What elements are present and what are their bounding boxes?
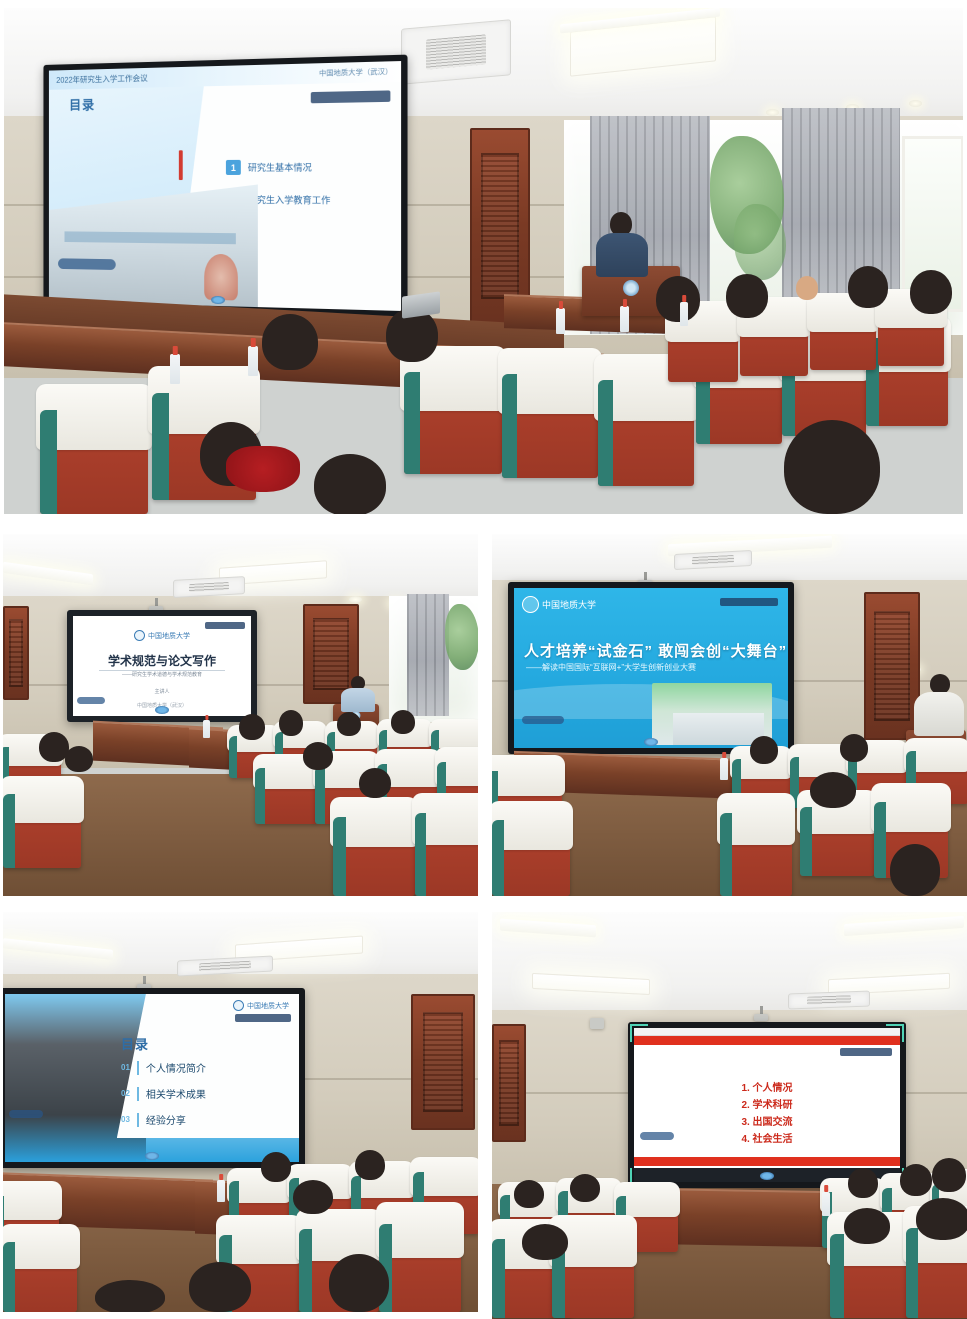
screen-brand-dot <box>760 1172 774 1180</box>
podium-emblem-icon <box>623 280 639 296</box>
seat <box>333 806 415 896</box>
ac-vent-icon <box>173 576 245 598</box>
slide-subtitle: ——研究生学术道德与学术规范教育 <box>73 671 251 678</box>
screen-content: 2022年研究生入学工作会议 中国地质大学（武汉） 目录 1 研究生基本情况 2 <box>49 61 401 311</box>
scene-room: 中国地质大学 人才培养“试金石” 敢闯会创“大舞台” ——解读中国国际“互联网+… <box>492 534 967 896</box>
audience-head <box>810 772 856 808</box>
seat-trim <box>229 736 237 778</box>
audience-head <box>844 1208 890 1244</box>
downlight <box>349 596 362 603</box>
seat <box>404 358 502 474</box>
seat <box>3 1232 77 1312</box>
audience-head <box>337 712 361 736</box>
slide-title-academic: 中国地质大学 学术规范与论文写作 ——研究生学术道德与学术规范教育 主讲人 中国… <box>73 616 251 716</box>
audience-head <box>95 1280 165 1312</box>
slide-toc-item: 02 相关学术成果 <box>121 1086 206 1101</box>
audience-head <box>329 1254 389 1312</box>
audience-head <box>355 1150 385 1180</box>
screen-brand-dot <box>145 1152 159 1160</box>
seat-trim <box>598 380 613 486</box>
slide-list-item: 1. 个人情况 <box>741 1080 792 1097</box>
audience-head <box>848 1168 878 1198</box>
audience-head <box>303 742 333 770</box>
seat-trim <box>492 1239 505 1318</box>
seat-trim <box>255 768 265 824</box>
screen-brand-dot <box>155 706 169 714</box>
slide-numbered-list: 1. 个人情况 2. 学术科研 3. 出国交流 4. 社会生活 <box>634 1028 900 1182</box>
university-emblem-icon <box>233 1000 244 1011</box>
seat-cover <box>3 776 84 823</box>
seat-trim <box>299 1229 312 1312</box>
seat-trim <box>830 1234 844 1318</box>
slide-toc-item: 03 经验分享 <box>121 1112 186 1127</box>
slide-header-right: 中国地质大学（武汉） <box>319 66 393 78</box>
slide-toc-label: 个人情况简介 <box>146 1060 206 1075</box>
screen-content: 中国地质大学 学术规范与论文写作 ——研究生学术道德与学术规范教育 主讲人 中国… <box>73 616 251 716</box>
water-bottle <box>822 1192 830 1216</box>
water-bottle <box>720 758 728 780</box>
hair-bow <box>226 446 300 492</box>
seat-trim <box>800 807 812 876</box>
screen-content: 中国地质大学 人才培养“试金石” 敢闯会创“大舞台” ——解读中国国际“互联网+… <box>514 588 788 748</box>
slide-toc-item: 1 研究生基本情况 <box>226 159 312 175</box>
speaker-head <box>930 674 950 694</box>
focus-corner-tr <box>886 1024 904 1042</box>
seat <box>598 366 694 486</box>
seat <box>3 784 81 868</box>
scene-room: 中国地质大学 目录 01 个人情况简介 02 相关学术成果 <box>3 912 478 1312</box>
water-bottle <box>620 306 629 332</box>
audience-head <box>391 710 415 734</box>
slide-red-header-bar <box>634 1036 900 1045</box>
wooden-door <box>492 1024 526 1142</box>
slide-university-logo: 中国地质大学 <box>233 1000 289 1011</box>
seat <box>415 802 478 896</box>
slide-list-item: 4. 社会生活 <box>741 1131 792 1148</box>
slide-university-name: 中国地质大学 <box>148 631 190 641</box>
slide-list-item: 3. 出国交流 <box>741 1114 792 1131</box>
curtain <box>407 594 449 716</box>
water-bottle <box>680 302 688 326</box>
display-screen: 1. 个人情况 2. 学术科研 3. 出国交流 4. 社会生活 <box>628 1022 906 1188</box>
seat <box>379 1212 461 1312</box>
audience-head <box>796 276 818 300</box>
slide-toc-label: 研究生基本情况 <box>248 160 312 173</box>
audience-head <box>656 276 700 322</box>
slide-red-footer-bar <box>634 1157 900 1166</box>
display-screen: 2022年研究生入学工作会议 中国地质大学（武汉） 目录 1 研究生基本情况 2 <box>43 55 407 318</box>
photo-innovation-competition-lecture: 中国地质大学 人才培养“试金石” 敢闯会创“大舞台” ——解读中国国际“互联网+… <box>492 534 967 896</box>
slide-decor-sculpture <box>204 254 238 301</box>
slide-badge <box>720 598 778 606</box>
projector-icon <box>754 1014 768 1021</box>
slide-toc-item: 01 个人情况简介 <box>121 1060 206 1075</box>
slide-contents: 中国地质大学 目录 01 个人情况简介 02 相关学术成果 <box>5 994 299 1162</box>
slide-contents: 2022年研究生入学工作会议 中国地质大学（武汉） 目录 1 研究生基本情况 2 <box>49 61 401 311</box>
wooden-door <box>3 606 29 700</box>
slide-university-name: 中国地质大学 <box>247 1001 289 1011</box>
seat-trim <box>720 813 732 896</box>
toc-divider <box>137 1061 139 1075</box>
seat-cover <box>3 1181 62 1220</box>
wooden-door <box>411 994 475 1130</box>
display-screen: 中国地质大学 人才培养“试金石” 敢闯会创“大舞台” ——解读中国国际“互联网+… <box>508 582 794 754</box>
speaker <box>592 212 652 274</box>
downlight <box>766 109 779 116</box>
audience-head <box>514 1180 544 1208</box>
audience-head <box>279 710 303 736</box>
slide-presenter: 主讲人 <box>73 688 251 695</box>
audience-head <box>750 736 778 764</box>
seat <box>720 802 792 896</box>
seat-trim <box>152 393 169 500</box>
seat-trim <box>404 372 420 474</box>
seat-trim <box>502 374 517 478</box>
slide-toc-number: 02 <box>121 1089 130 1098</box>
ac-vent-icon <box>401 19 511 85</box>
slide-campus-photo <box>652 683 772 745</box>
toc-divider <box>137 1113 139 1127</box>
slide-badge <box>311 90 391 103</box>
speaker <box>339 676 377 710</box>
audience-head <box>900 1164 932 1196</box>
slide-watermark <box>9 1110 43 1118</box>
wooden-door <box>864 592 920 740</box>
speaker-torso <box>341 688 375 712</box>
downlight <box>909 100 922 107</box>
audience-head <box>570 1174 600 1202</box>
seat <box>40 396 148 514</box>
audience-head <box>261 1152 291 1182</box>
slide-title: 目录 <box>121 1034 149 1053</box>
slide-university-logo: 中国地质大学 <box>522 596 596 613</box>
slide-list-item: 2. 学术科研 <box>741 1097 792 1114</box>
seat <box>502 360 598 478</box>
photo-lecture-hall-main: 2022年研究生入学工作会议 中国地质大学（武汉） 目录 1 研究生基本情况 2 <box>4 8 963 514</box>
slide-toc-number: 1 <box>226 160 241 175</box>
slide-toc-label: 经验分享 <box>146 1112 186 1127</box>
seat-trim <box>415 813 426 896</box>
slide-toc-number: 01 <box>121 1063 130 1072</box>
audience-head <box>890 844 940 896</box>
slide-university-logo: 中国地质大学 <box>134 630 190 641</box>
camera-icon <box>590 1018 604 1029</box>
water-bottle <box>248 346 258 376</box>
slide-toc-number: 03 <box>121 1115 130 1124</box>
photo-red-list-lecture: 1. 个人情况 2. 学术科研 3. 出国交流 4. 社会生活 <box>492 912 967 1319</box>
audience-head <box>189 1262 251 1312</box>
slide-toc-label: 相关学术成果 <box>146 1086 206 1101</box>
slide-watermark <box>640 1132 674 1140</box>
slide-watermark <box>522 716 564 724</box>
water-bottle <box>170 354 180 384</box>
photo-student-sharing-contents: 中国地质大学 目录 01 个人情况简介 02 相关学术成果 <box>3 912 478 1312</box>
audience-head <box>522 1224 568 1260</box>
seat-trim <box>3 1242 15 1312</box>
seat-cover <box>492 801 573 849</box>
audience-head <box>239 714 265 740</box>
screen-content: 1. 个人情况 2. 学术科研 3. 出国交流 4. 社会生活 <box>634 1028 900 1182</box>
seat-trim <box>315 766 325 824</box>
speaker-torso <box>914 692 964 736</box>
flag-icon <box>179 150 183 180</box>
audience-head <box>726 274 768 318</box>
seat-cover <box>492 755 565 796</box>
speaker <box>914 674 964 734</box>
audience-head <box>293 1180 333 1214</box>
audience-head <box>910 270 952 314</box>
collage-page: 2022年研究生入学工作会议 中国地质大学（武汉） 目录 1 研究生基本情况 2 <box>0 0 967 1319</box>
slide-watermark <box>77 697 105 704</box>
water-bottle <box>203 720 210 738</box>
slide-header-left: 2022年研究生入学工作会议 <box>56 72 148 85</box>
slide-list: 1. 个人情况 2. 学术科研 3. 出国交流 4. 社会生活 <box>634 1080 900 1148</box>
seat-trim <box>333 817 346 896</box>
slide-university-name: 中国地质大学 <box>542 598 596 611</box>
slide-title: 人才培养“试金石” 敢闯会创“大舞台” <box>524 640 787 661</box>
projection-screen: 中国地质大学 学术规范与论文写作 ——研究生学术道德与学术规范教育 主讲人 中国… <box>67 610 257 722</box>
seat-trim <box>906 1228 918 1318</box>
focus-corner-tl <box>630 1024 648 1042</box>
audience-head <box>784 420 880 514</box>
toc-divider <box>137 1087 139 1101</box>
projection-screen: 中国地质大学 目录 01 个人情况简介 02 相关学术成果 <box>3 988 305 1168</box>
water-bottle <box>556 308 565 334</box>
photo-academic-writing-lecture: 中国地质大学 学术规范与论文写作 ——研究生学术道德与学术规范教育 主讲人 中国… <box>3 534 478 896</box>
audience-head <box>932 1158 966 1192</box>
university-emblem-icon <box>522 596 539 613</box>
window-chrome <box>634 1028 900 1036</box>
slide-title: 学术规范与论文写作 <box>73 652 251 669</box>
audience-head <box>359 768 391 798</box>
seat-trim <box>874 802 886 878</box>
tree-foliage <box>445 604 478 670</box>
slide-badge <box>235 1014 291 1022</box>
university-emblem-icon <box>134 630 145 641</box>
slide-toc-label: 研究生入学教育工作 <box>248 193 331 206</box>
scene-room: 2022年研究生入学工作会议 中国地质大学（武汉） 目录 1 研究生基本情况 2 <box>4 8 963 514</box>
audience-head <box>916 1198 967 1240</box>
slide-badge <box>840 1048 892 1056</box>
audience-head <box>848 266 888 308</box>
speaker-torso <box>596 233 648 277</box>
seat-trim <box>40 410 57 514</box>
seat <box>255 760 317 824</box>
screen-content: 中国地质大学 目录 01 个人情况简介 02 相关学术成果 <box>5 994 299 1162</box>
audience-head <box>840 734 868 762</box>
seat-trim <box>492 820 504 896</box>
seat <box>800 798 874 876</box>
seat-trim <box>3 794 15 868</box>
ac-vent-icon <box>788 991 870 1010</box>
seat <box>492 810 570 896</box>
screen-brand-dot <box>644 738 658 746</box>
audience-head <box>65 746 93 772</box>
slide-watermark <box>58 258 116 270</box>
slide-badge <box>205 622 245 629</box>
water-bottle <box>217 1180 225 1202</box>
audience-head <box>262 314 318 370</box>
scene-room: 1. 个人情况 2. 学术科研 3. 出国交流 4. 社会生活 <box>492 912 967 1319</box>
slide-competition: 中国地质大学 人才培养“试金石” 敢闯会创“大舞台” ——解读中国国际“互联网+… <box>514 588 788 748</box>
slide-subtitle: ——解读中国国际“互联网+”大学生创新创业大赛 <box>526 662 696 673</box>
slide-title: 目录 <box>69 95 95 114</box>
scene-room: 中国地质大学 学术规范与论文写作 ——研究生学术道德与学术规范教育 主讲人 中国… <box>3 534 478 896</box>
audience-head <box>314 454 386 514</box>
seat <box>810 300 876 370</box>
screen-brand-dot <box>211 296 225 304</box>
